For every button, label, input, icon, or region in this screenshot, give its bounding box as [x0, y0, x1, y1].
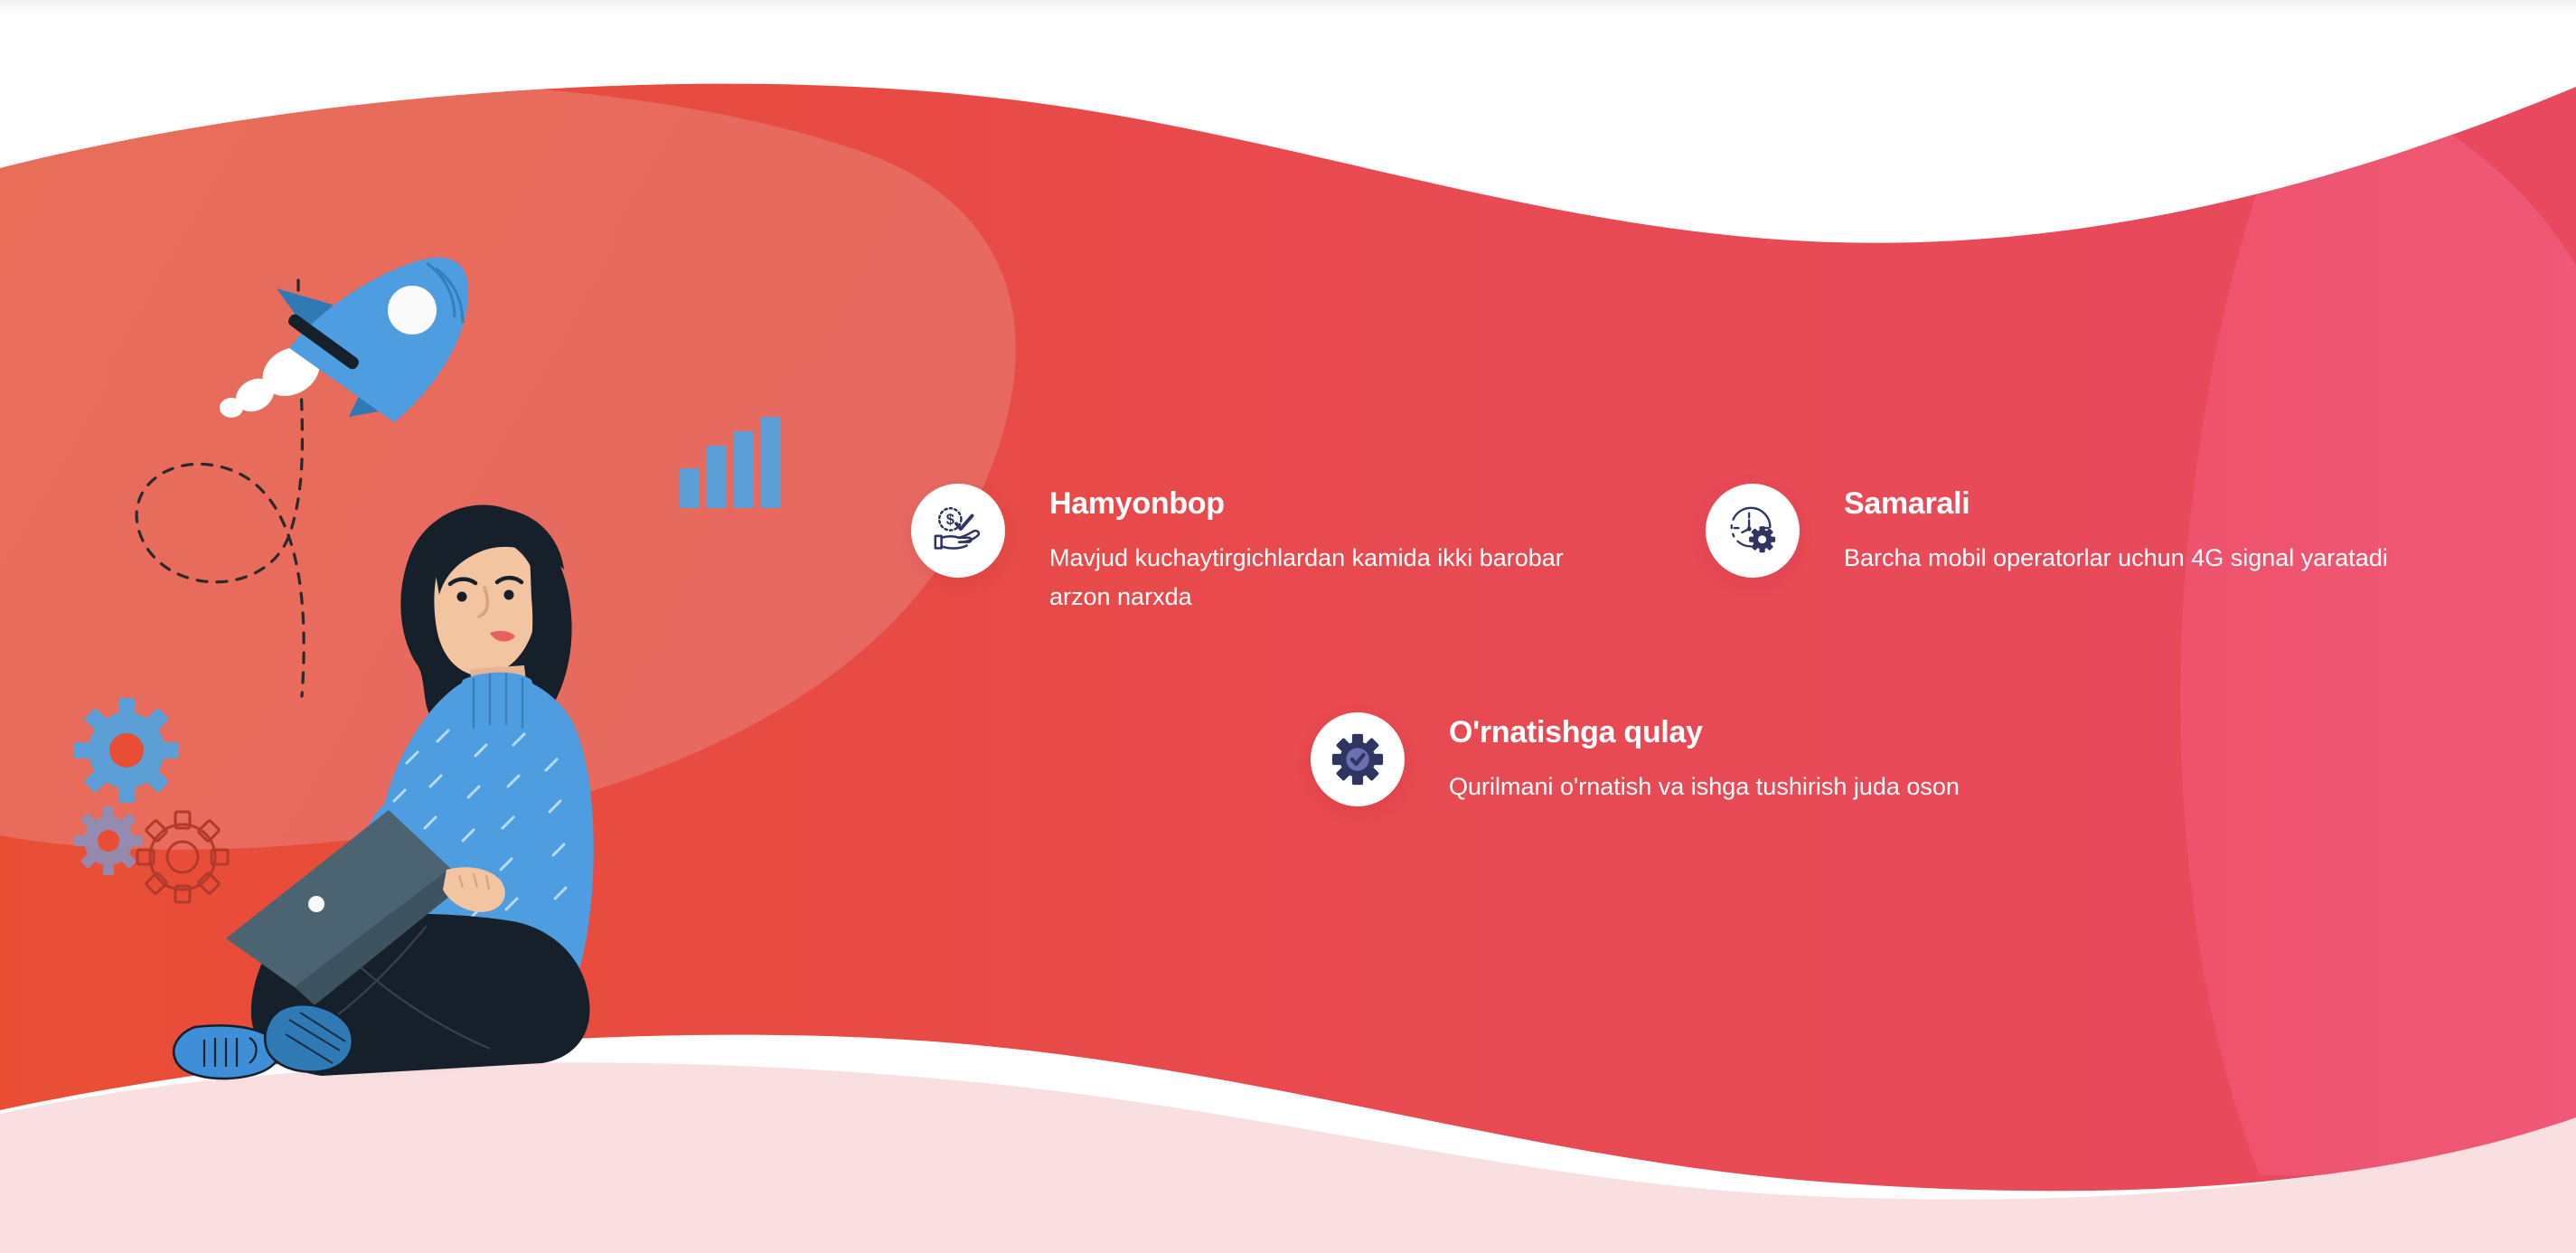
gear-check-icon: [1311, 712, 1405, 806]
section-top-divider: [0, 0, 2576, 13]
feature-card-title: Samarali: [1844, 487, 2388, 521]
feature-card-title: O'rnatishga qulay: [1449, 716, 1960, 749]
dashed-path: [136, 280, 304, 696]
gears-decoration: [74, 698, 228, 902]
feature-card-description: Barcha mobil operatorlar uchun 4G signal…: [1844, 539, 2388, 578]
feature-card-title: Hamyonbop: [1049, 487, 1610, 521]
feature-card-hamyonbop: $ Hamyonbop Mavjud kuchaytirgichlardan k…: [911, 484, 1625, 617]
clock-gear-icon: [1706, 484, 1800, 578]
person-with-laptop: [174, 504, 594, 1079]
feature-cards: $ Hamyonbop Mavjud kuchaytirgichlardan k…: [904, 484, 2531, 990]
hero-illustration: [72, 298, 813, 1112]
feature-card-description: Qurilmani o'rnatish va ishga tushirish j…: [1449, 768, 1960, 806]
hand-holding-money-icon: $: [911, 484, 1005, 578]
shoe-left: [174, 1025, 278, 1079]
signal-bars-icon: [680, 417, 781, 508]
svg-text:$: $: [946, 512, 954, 528]
feature-card-description: Mavjud kuchaytirgichlardan kamida ikki b…: [1049, 539, 1610, 616]
feature-card-samarali: Samarali Barcha mobil operatorlar uchun …: [1706, 484, 2420, 578]
feature-card-ornatishga-qulay: O'rnatishga qulay Qurilmani o'rnatish va…: [1311, 712, 2025, 806]
